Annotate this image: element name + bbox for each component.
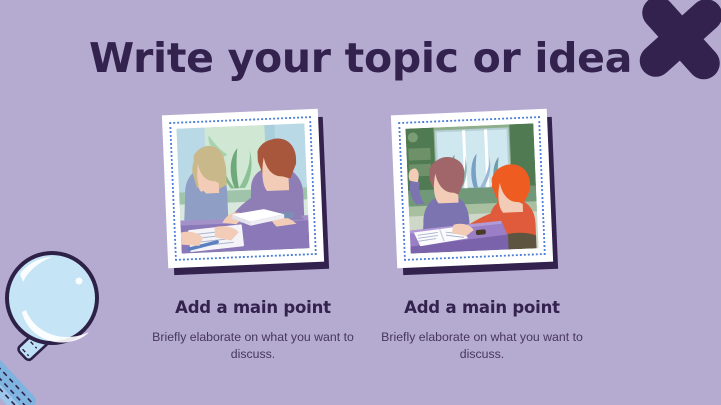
column-1: Add a main point Briefly elaborate on wh…: [137, 112, 369, 363]
photo-frame: [391, 109, 553, 268]
column-heading: Add a main point: [137, 297, 369, 318]
photo-card-2[interactable]: [394, 112, 559, 275]
page-title: Write your topic or idea: [0, 33, 721, 83]
photo-frame: [162, 109, 324, 268]
content-columns: Add a main point Briefly elaborate on wh…: [0, 112, 721, 392]
column-2: Add a main point Briefly elaborate on wh…: [366, 112, 598, 363]
classroom-students-photo: [405, 123, 538, 253]
students-studying-photo: [176, 123, 309, 253]
column-body-text: Briefly elaborate on what you want to di…: [137, 329, 369, 363]
slide-canvas: Write your topic or idea: [0, 0, 721, 405]
photo-card-1[interactable]: [165, 112, 330, 275]
column-body-text: Briefly elaborate on what you want to di…: [366, 329, 598, 363]
column-heading: Add a main point: [366, 297, 598, 318]
